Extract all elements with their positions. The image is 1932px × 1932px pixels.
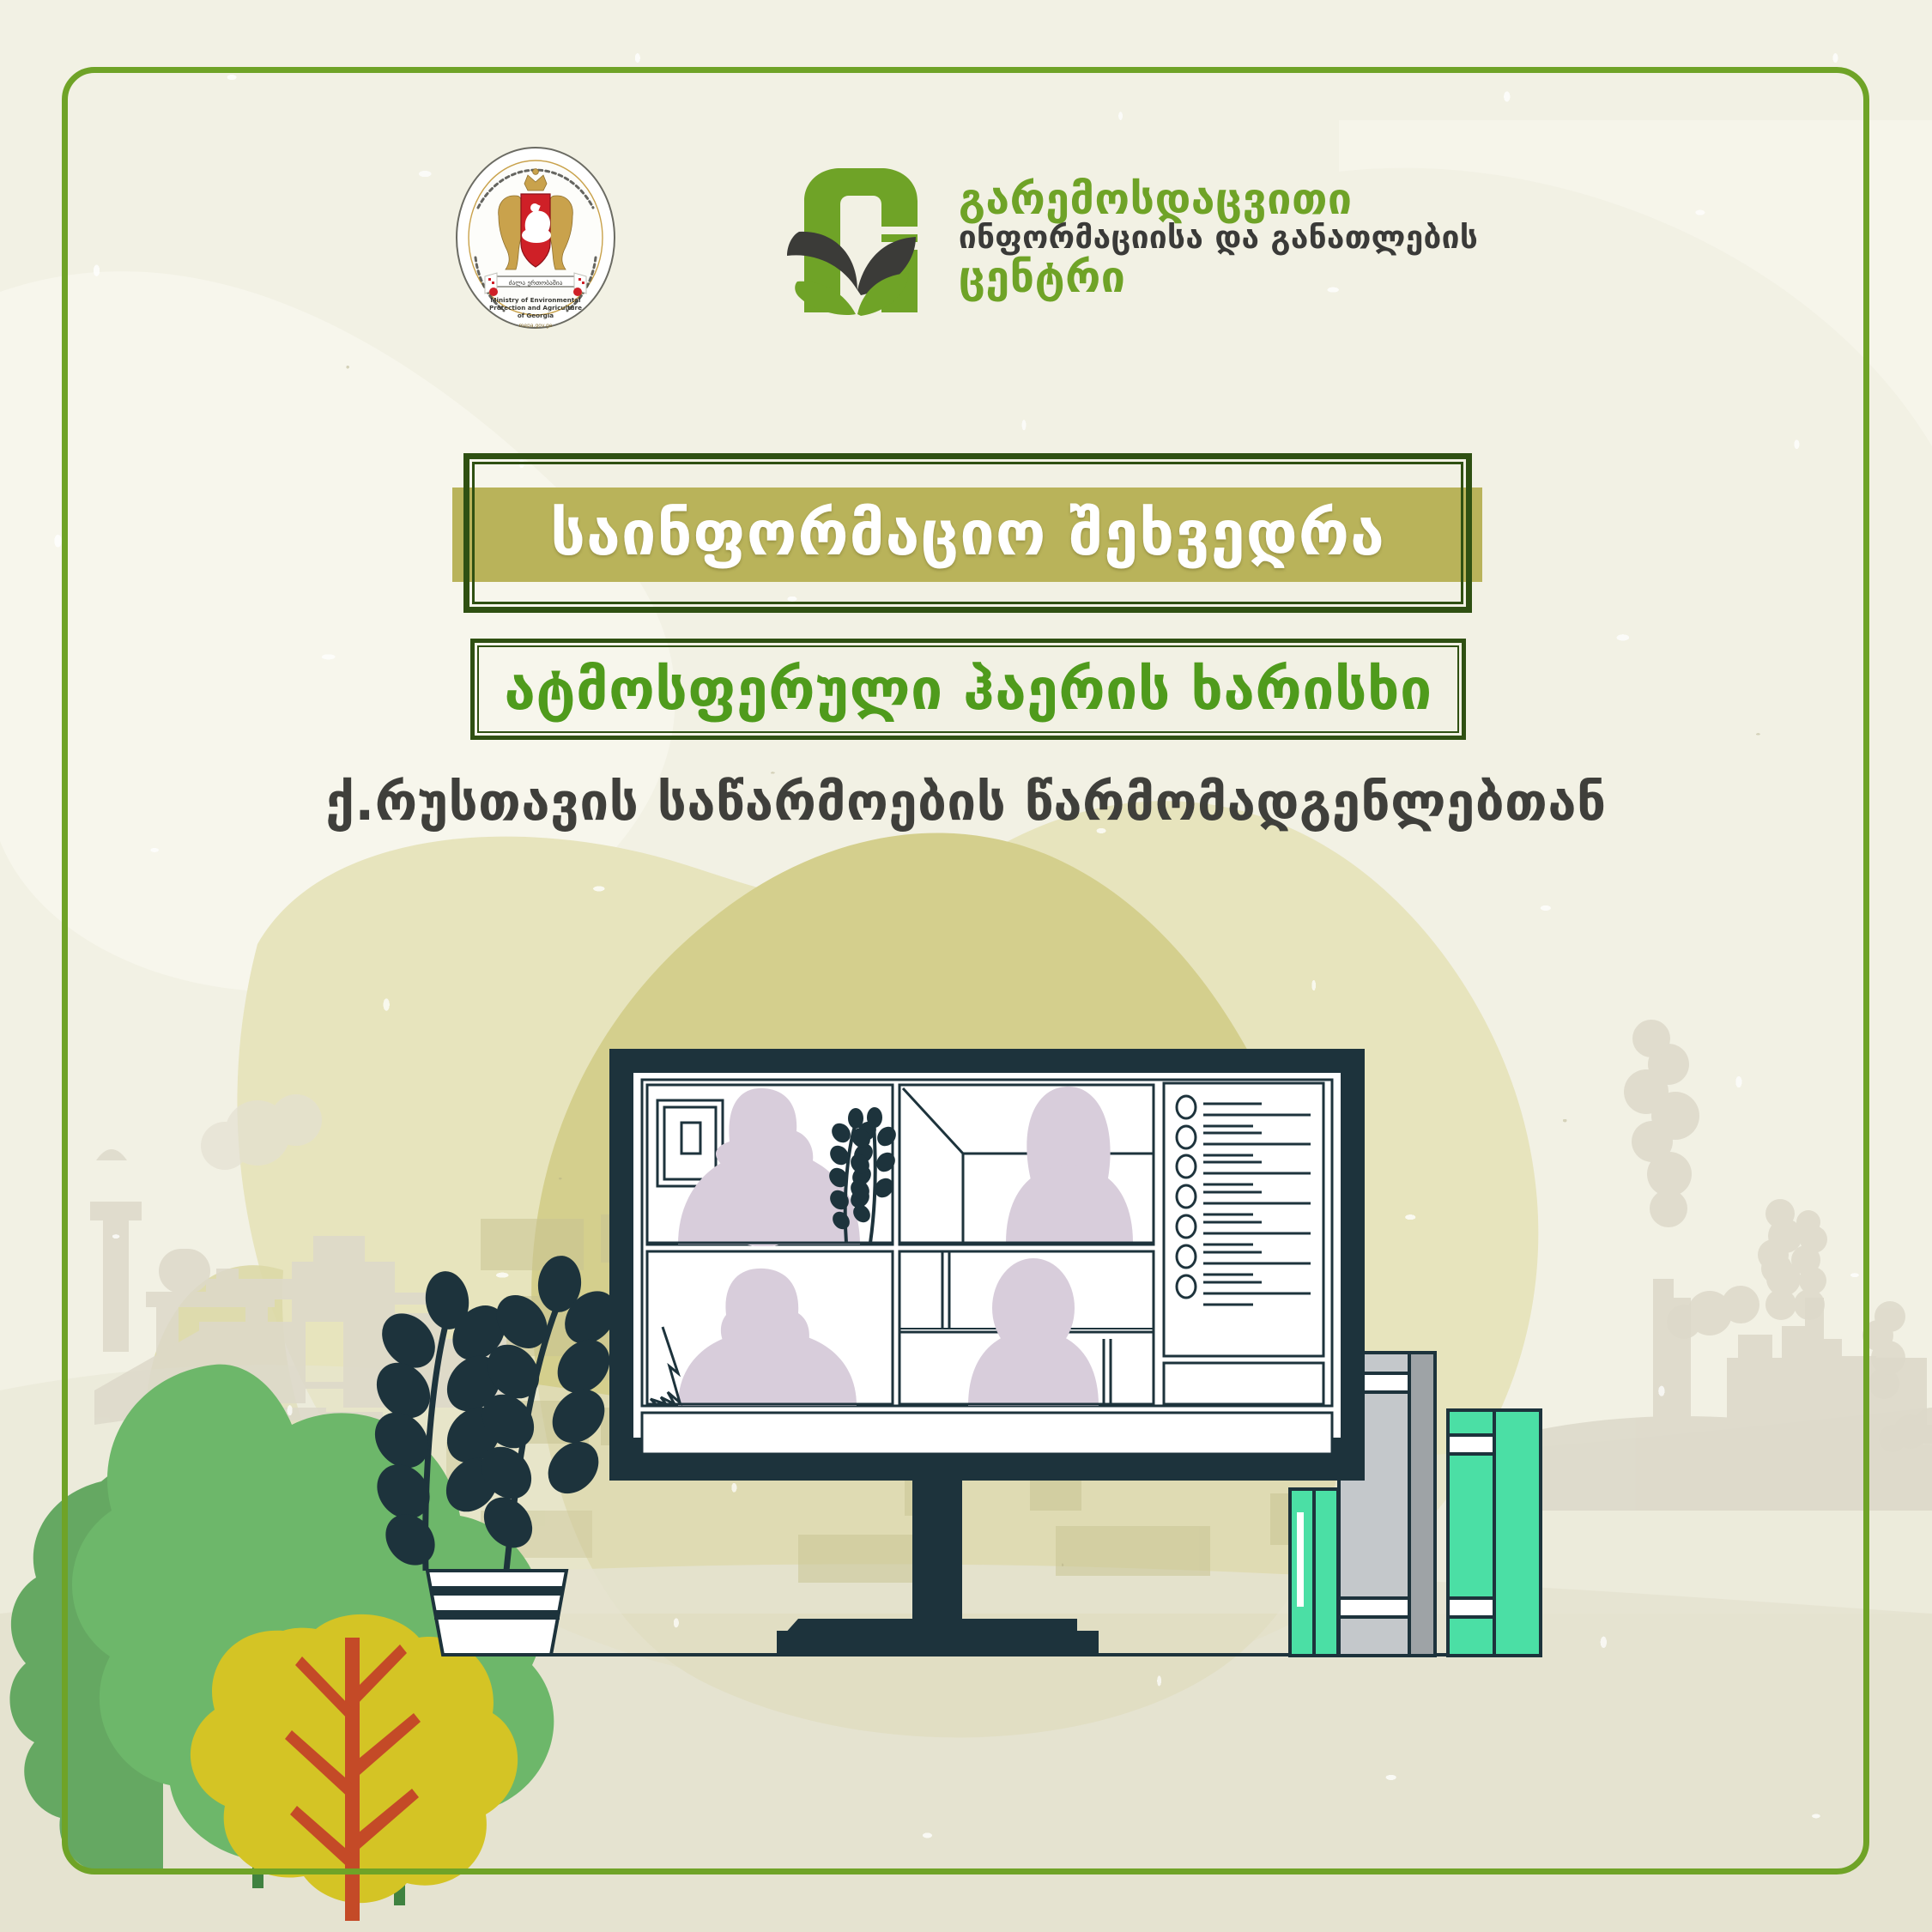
secondary-banner-text: ატმოსფერული ჰაერის ხარისხი [470, 639, 1466, 740]
participant-tile-2 [899, 1085, 1154, 1245]
seal-line-3: of Georgia [518, 312, 554, 319]
primary-banner-text: საინფორმაციო შეხვედრა [463, 453, 1472, 613]
open-book-leaf-mark-icon [772, 153, 943, 324]
poster-canvas: ძალა ერთობაშია Ministry of Environmental… [0, 0, 1932, 1932]
participant-tile-4 [899, 1251, 1154, 1406]
centre-logo-line-1: გარემოსდაცვითი [959, 177, 1478, 221]
participant-tile-1 [647, 1085, 899, 1246]
monitor [609, 1049, 1365, 1655]
svg-text:ძალა ერთობაშია: ძალა ერთობაშია [508, 279, 562, 287]
centre-logo: გარემოსდაცვითი ინფორმაციისა და განათლები… [772, 153, 1478, 324]
seal-website: mepa.gov.ge [518, 323, 552, 329]
yellow-tree [191, 1614, 518, 1921]
participant-sidebar [1164, 1083, 1323, 1404]
seal-line-1: Ministry of Environmental [490, 296, 580, 304]
subtitle-text: ქ.რუსთავის საწარმოების წარმომადგენლებთან [0, 772, 1932, 833]
primary-title-banner: საინფორმაციო შეხვედრა [463, 453, 1472, 613]
secondary-title-banner: ატმოსფერული ჰაერის ხარისხი [470, 639, 1466, 740]
ministry-seal: ძალა ერთობაშია Ministry of Environmental… [454, 146, 617, 330]
centre-logo-line-3: ცენტრი [959, 255, 1478, 300]
participant-tile-3 [647, 1251, 893, 1406]
header-logos: ძალა ერთობაშია Ministry of Environmental… [0, 146, 1932, 330]
centre-logo-line-2: ინფორმაციისა და განათლების [959, 221, 1478, 254]
seal-line-2: Protection and Agriculture [489, 304, 582, 312]
